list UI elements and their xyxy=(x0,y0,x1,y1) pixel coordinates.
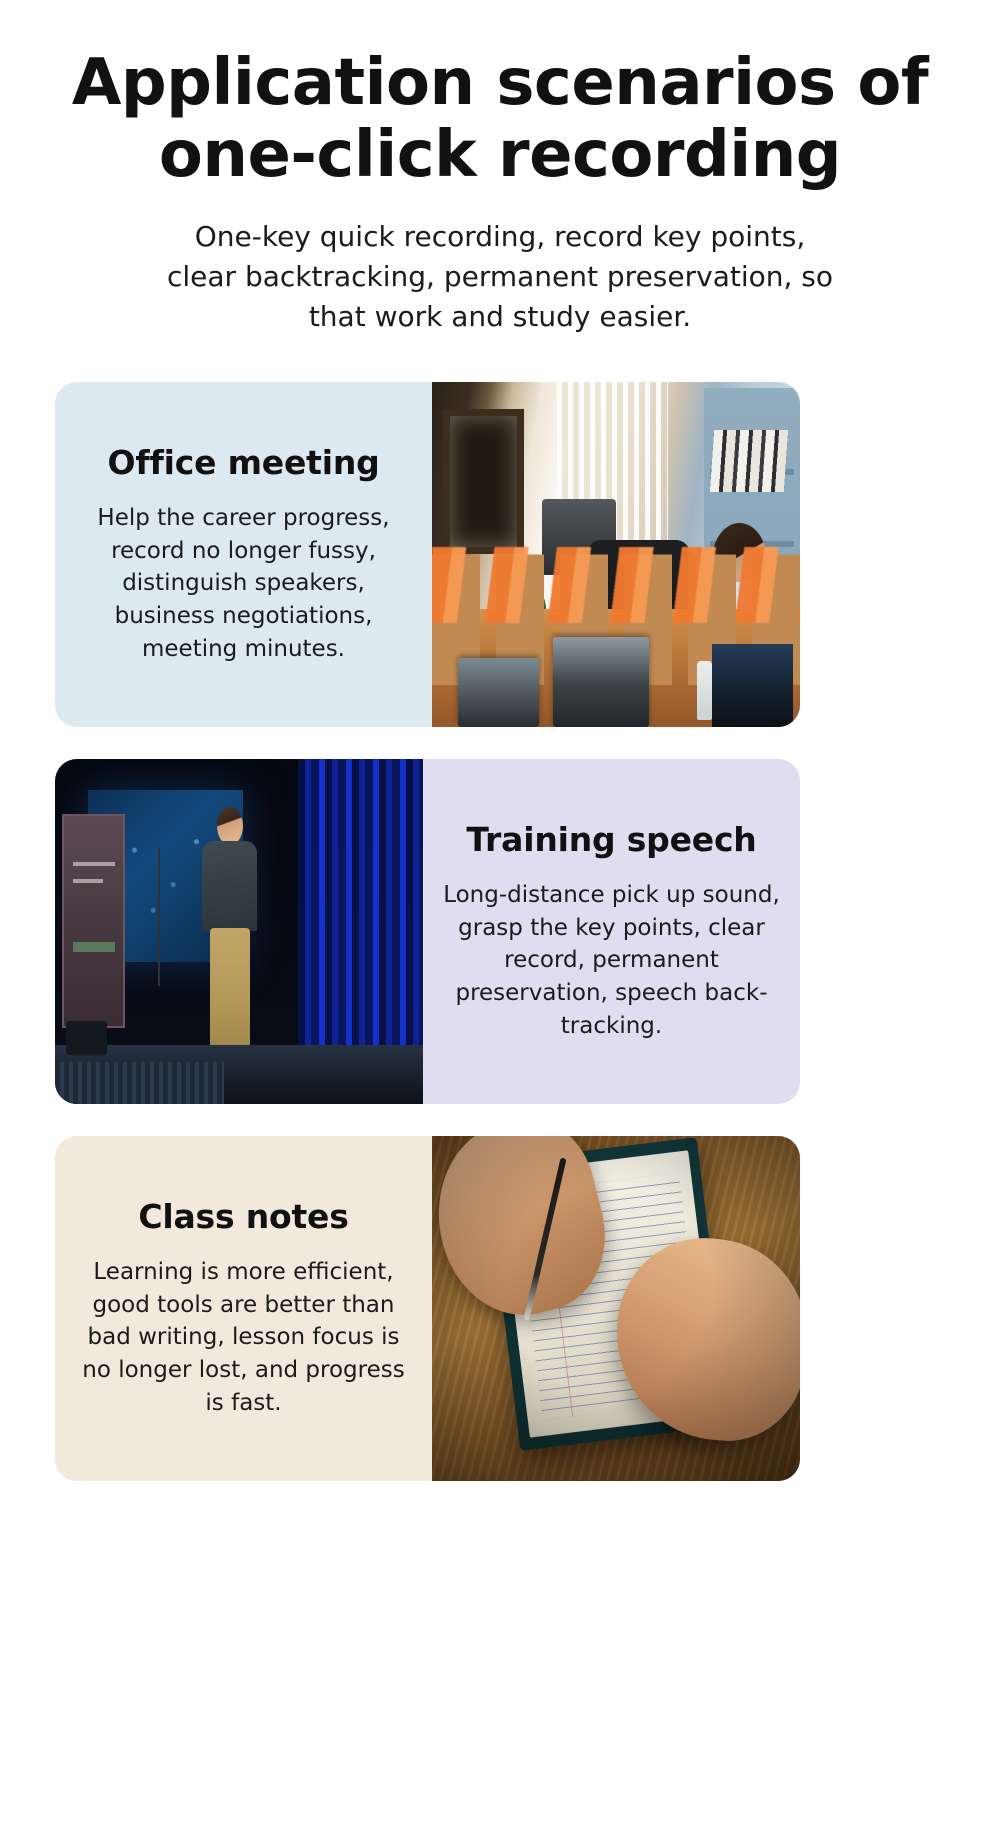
laptop-left-shape xyxy=(458,658,539,727)
page-subtitle-line-3: that work and study easier. xyxy=(120,297,880,337)
blue-curtain-shape xyxy=(298,759,423,1052)
water-bottle-shape xyxy=(697,661,712,720)
page-title-line-1: Application scenarios of xyxy=(70,48,930,120)
card-title: Office meeting xyxy=(107,443,379,482)
tissue-paper-shape xyxy=(432,547,800,623)
office-meeting-photo xyxy=(432,382,800,727)
training-speech-photo xyxy=(55,759,423,1104)
books-shape xyxy=(710,430,788,492)
scenario-card-class-notes[interactable]: Class notes Learning is more efficient, … xyxy=(55,1136,800,1481)
laptop-center-shape xyxy=(553,637,649,727)
scenario-card-list: Office meeting Help the career progress,… xyxy=(0,382,1000,1481)
roll-up-banner-shape xyxy=(62,814,125,1028)
page-subtitle-line-1: One-key quick recording, record key poin… xyxy=(120,217,880,257)
card-text-block: Class notes Learning is more efficient, … xyxy=(55,1136,432,1481)
banner-line-3 xyxy=(73,942,115,952)
page-header: Application scenarios of one-click recor… xyxy=(0,0,1000,337)
banner-line-1 xyxy=(73,862,115,866)
speaker-torso-shape xyxy=(202,841,257,931)
scenario-card-office-meeting[interactable]: Office meeting Help the career progress,… xyxy=(55,382,800,727)
stage-monitor-shape xyxy=(66,1021,106,1056)
card-body: Long-distance pick up sound, grasp the k… xyxy=(439,879,784,1042)
card-image-class-notes xyxy=(432,1136,800,1481)
scenario-card-training-speech[interactable]: Training speech Long-distance pick up so… xyxy=(55,759,800,1104)
banner-line-2 xyxy=(73,879,103,883)
wall-frame-shape xyxy=(443,409,524,554)
laptop-right-shape xyxy=(712,644,793,727)
mic-stand-shape xyxy=(158,848,160,986)
class-notes-photo xyxy=(432,1136,800,1481)
photo-vignette xyxy=(432,1136,800,1481)
promo-page: Application scenarios of one-click recor… xyxy=(0,0,1000,1843)
card-text-block: Office meeting Help the career progress,… xyxy=(55,382,432,727)
card-image-training-speech xyxy=(55,759,423,1104)
page-title-line-2: one-click recording xyxy=(70,120,930,192)
card-title: Training speech xyxy=(466,820,756,859)
page-title: Application scenarios of one-click recor… xyxy=(0,48,1000,191)
stage-skirt-shape xyxy=(55,1062,224,1103)
card-body: Help the career progress, record no long… xyxy=(71,502,416,665)
card-body: Learning is more efficient, good tools a… xyxy=(71,1256,416,1419)
speaker-head-shape xyxy=(217,807,243,845)
card-image-office-meeting xyxy=(432,382,800,727)
page-subtitle: One-key quick recording, record key poin… xyxy=(0,217,1000,336)
page-subtitle-line-2: clear backtracking, permanent preservati… xyxy=(120,257,880,297)
card-text-block: Training speech Long-distance pick up so… xyxy=(423,759,800,1104)
card-title: Class notes xyxy=(138,1197,348,1236)
